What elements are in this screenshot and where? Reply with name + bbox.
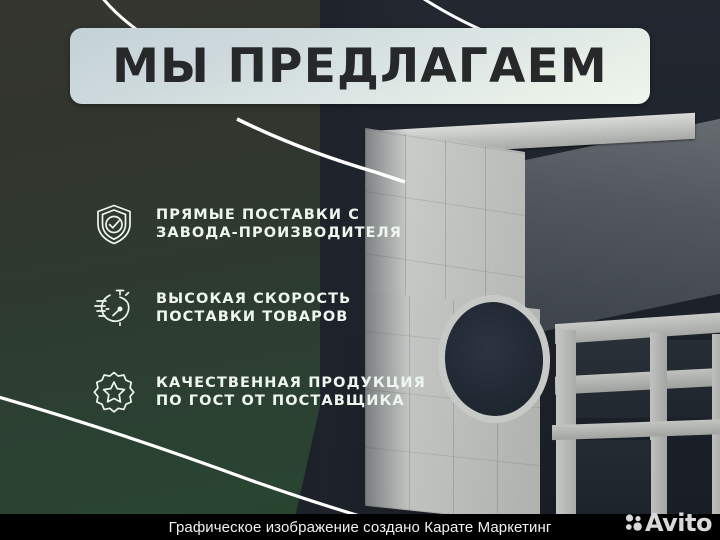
- shield-check-icon: [92, 202, 136, 246]
- feature-item: КАЧЕСТВЕННАЯ ПРОДУКЦИЯ ПО ГОСТ ОТ ПОСТАВ…: [92, 370, 426, 414]
- avito-watermark: Avito: [625, 511, 712, 535]
- feature-item: ВЫСОКАЯ СКОРОСТЬ ПОСТАВКИ ТОВАРОВ: [92, 286, 426, 330]
- feature-list: ПРЯМЫЕ ПОСТАВКИ С ЗАВОДА-ПРОИЗВОДИТЕЛЯ: [92, 202, 426, 414]
- quality-badge-star-icon: [92, 370, 136, 414]
- feature-label: КАЧЕСТВЕННАЯ ПРОДУКЦИЯ ПО ГОСТ ОТ ПОСТАВ…: [156, 374, 426, 411]
- page-title: МЫ ПРЕДЛАГАЕМ: [112, 43, 608, 90]
- avito-wordmark: Avito: [645, 511, 712, 535]
- poster-canvas: МЫ ПРЕДЛАГАЕМ ПРЯМЫЕ ПОСТАВКИ С ЗАВОДА-П…: [0, 0, 720, 540]
- feature-item: ПРЯМЫЕ ПОСТАВКИ С ЗАВОДА-ПРОИЗВОДИТЕЛЯ: [92, 202, 426, 246]
- feature-label: ВЫСОКАЯ СКОРОСТЬ ПОСТАВКИ ТОВАРОВ: [156, 290, 351, 327]
- caption-text: Графическое изображение создано Карате М…: [169, 519, 552, 536]
- title-banner: МЫ ПРЕДЛАГАЕМ: [70, 28, 650, 104]
- caption-bar: Графическое изображение создано Карате М…: [0, 514, 720, 540]
- feature-label: ПРЯМЫЕ ПОСТАВКИ С ЗАВОДА-ПРОИЗВОДИТЕЛЯ: [156, 206, 402, 243]
- avito-logo-icon: [625, 514, 642, 532]
- stopwatch-speed-icon: [92, 286, 136, 330]
